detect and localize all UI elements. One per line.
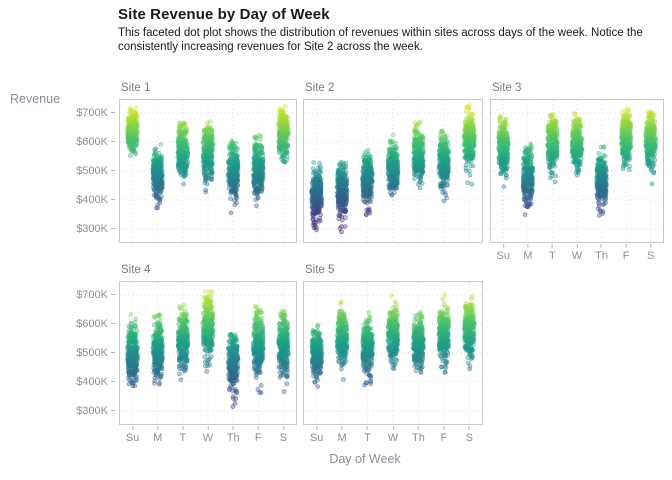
x-axis-tick-label: W — [203, 432, 213, 444]
panel-plot-region — [490, 99, 664, 243]
x-axis-tick-mark — [527, 244, 528, 248]
x-axis-tick-w: W — [572, 244, 582, 262]
plot-area: Site 1$700K$600K$500K$400K$300KSite 2Sit… — [0, 0, 672, 480]
panel-plot-region — [119, 99, 297, 243]
x-axis: SuMTWThFS — [119, 426, 297, 446]
y-axis-tick-mark — [111, 170, 115, 171]
x-axis-tick-mark — [342, 426, 343, 430]
x-axis-tick-w: W — [388, 426, 398, 444]
x-axis-tick-f: F — [623, 244, 630, 262]
x-axis-tick-s: S — [280, 426, 287, 444]
x-axis-tick-label: M — [523, 250, 532, 262]
y-axis-tick-label: $600K — [76, 136, 115, 148]
x-axis-tick-f: F — [255, 426, 262, 444]
panel-plot-region — [119, 281, 297, 425]
x-axis-tick-label: F — [255, 432, 262, 444]
x-axis-tick-label: F — [440, 432, 447, 444]
x-axis-tick-t: T — [179, 426, 186, 444]
x-axis-tick-mark — [443, 426, 444, 430]
x-axis-tick-mark — [601, 244, 602, 248]
x-axis-tick-mark — [503, 244, 504, 248]
x-axis-tick-label: Su — [126, 432, 139, 444]
x-axis-tick-s: S — [647, 244, 654, 262]
x-axis-tick-label: S — [466, 432, 473, 444]
x-axis-tick-s: S — [466, 426, 473, 444]
facet-title: Site 1 — [121, 82, 150, 94]
x-axis-tick-mark — [233, 426, 234, 430]
y-axis-tick-label: $700K — [76, 289, 115, 301]
x-axis-tick-label: Su — [497, 250, 510, 262]
x-axis-tick-label: W — [388, 432, 398, 444]
y-axis-tick-label: $300K — [76, 405, 115, 417]
data-points — [310, 103, 477, 234]
x-axis-tick-m: M — [338, 426, 347, 444]
x-axis-tick-label: W — [572, 250, 582, 262]
x-axis-tick-mark — [132, 426, 133, 430]
y-axis: $700K$600K$500K$400K$300K — [57, 100, 115, 242]
y-axis-tick-label: $400K — [76, 376, 115, 388]
y-axis-tick-mark — [111, 323, 115, 324]
facet-panel: Site 1 — [119, 99, 297, 243]
x-axis-tick-th: Th — [412, 426, 425, 444]
facet-title: Site 5 — [305, 264, 334, 276]
x-axis-tick-mark — [316, 426, 317, 430]
x-axis-tick-label: T — [179, 432, 186, 444]
x-axis-tick-label: S — [280, 432, 287, 444]
x-axis-tick-mark — [207, 426, 208, 430]
x-axis-tick-mark — [650, 244, 651, 248]
x-axis-tick-m: M — [153, 426, 162, 444]
facet-title: Site 2 — [305, 82, 334, 94]
x-axis-tick-t: T — [549, 244, 556, 262]
x-axis-tick-mark — [418, 426, 419, 430]
y-axis-tick-label: $500K — [76, 347, 115, 359]
y-axis-tick-mark — [111, 112, 115, 113]
x-axis-tick-th: Th — [595, 244, 608, 262]
x-axis-tick-label: M — [338, 432, 347, 444]
y-axis-tick-mark — [111, 352, 115, 353]
x-axis-tick-th: Th — [227, 426, 240, 444]
x-axis-tick-mark — [182, 426, 183, 430]
x-axis-tick-su: Su — [497, 244, 510, 262]
x-axis-tick-su: Su — [310, 426, 323, 444]
x-axis-tick-w: W — [203, 426, 213, 444]
x-axis: SuMTWThFS — [303, 426, 483, 446]
x-axis: SuMTWThFS — [490, 244, 664, 264]
data-points — [126, 104, 291, 214]
x-axis-tick-mark — [626, 244, 627, 248]
y-axis: $700K$600K$500K$400K$300K — [57, 282, 115, 424]
x-axis-tick-f: F — [440, 426, 447, 444]
facet-title: Site 3 — [492, 82, 521, 94]
panel-plot-region — [303, 281, 483, 425]
y-axis-tick-mark — [111, 410, 115, 411]
x-axis-tick-label: Th — [412, 432, 425, 444]
facet-panel: Site 2 — [303, 99, 483, 243]
facet-panel: Site 3 — [490, 99, 664, 243]
x-axis-tick-label: M — [153, 432, 162, 444]
y-axis-tick-mark — [111, 228, 115, 229]
y-axis-tick-label: $500K — [76, 165, 115, 177]
x-axis-tick-label: Th — [595, 250, 608, 262]
facet-panel: Site 5 — [303, 281, 483, 425]
y-axis-tick-label: $700K — [76, 107, 115, 119]
facet-title: Site 4 — [121, 264, 150, 276]
y-axis-tick-mark — [111, 199, 115, 200]
y-axis-tick-mark — [111, 141, 115, 142]
y-axis-tick-label: $400K — [76, 194, 115, 206]
x-axis-tick-mark — [392, 426, 393, 430]
y-axis-tick-mark — [111, 294, 115, 295]
x-axis-tick-label: Su — [310, 432, 323, 444]
y-axis-tick-label: $300K — [76, 223, 115, 235]
y-axis-tick-mark — [111, 381, 115, 382]
x-axis-tick-mark — [283, 426, 284, 430]
x-axis-tick-su: Su — [126, 426, 139, 444]
x-axis-tick-mark — [258, 426, 259, 430]
x-axis-tick-mark — [552, 244, 553, 248]
x-axis-tick-mark — [157, 426, 158, 430]
x-axis-tick-label: Th — [227, 432, 240, 444]
panel-plot-region — [303, 99, 483, 243]
x-axis-tick-mark — [367, 426, 368, 430]
x-axis-tick-mark — [576, 244, 577, 248]
x-axis-tick-t: T — [364, 426, 371, 444]
x-axis-tick-label: F — [623, 250, 630, 262]
y-axis-tick-label: $600K — [76, 318, 115, 330]
x-axis-tick-label: T — [364, 432, 371, 444]
facet-panel: Site 4 — [119, 281, 297, 425]
x-axis-tick-label: T — [549, 250, 556, 262]
x-axis-tick-label: S — [647, 250, 654, 262]
x-axis-tick-m: M — [523, 244, 532, 262]
x-axis-tick-mark — [469, 426, 470, 430]
